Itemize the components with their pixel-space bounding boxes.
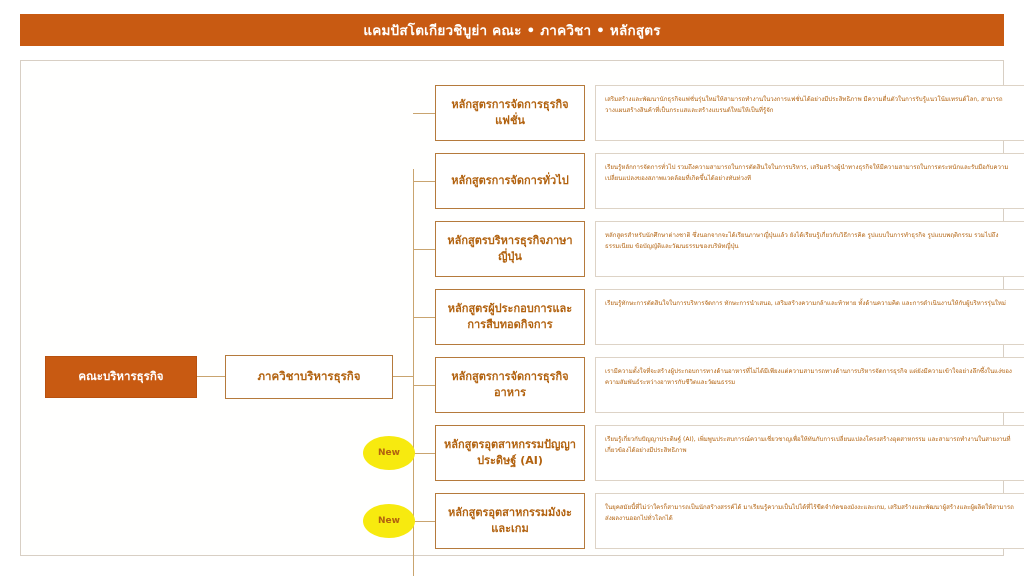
program-node[interactable]: หลักสูตรอุตสาหกรรมปัญญาประดิษฐ์ (AI): [435, 425, 585, 481]
program-node[interactable]: หลักสูตรการจัดการธุรกิจอาหาร: [435, 357, 585, 413]
program-node-label: หลักสูตรผู้ประกอบการและการสืบทอดกิจการ: [440, 301, 580, 333]
program-row: หลักสูตรผู้ประกอบการและการสืบทอดกิจการเร…: [413, 289, 1024, 345]
program-description-box: เรียนรู้ทักษะการตัดสินใจในการบริหารจัดกา…: [595, 289, 1024, 345]
page-header-banner: แคมปัสโตเกียวชิบูย่า คณะ • ภาควิชา • หลั…: [20, 14, 1004, 46]
program-node-label: หลักสูตรการจัดการธุรกิจอาหาร: [440, 369, 580, 401]
program-description-box: ในยุคสมัยนี้ที่ไม่ว่าใครก็สามารถเป็นนักส…: [595, 493, 1024, 549]
new-badge-label: New: [378, 516, 400, 526]
program-description-text: เสริมสร้างและพัฒนานักธุรกิจแฟชั่นรุ่นใหม…: [605, 94, 1015, 117]
faculty-node-label: คณะบริหารธุรกิจ: [78, 370, 163, 384]
program-description-box: เรามีความตั้งใจที่จะสร้างผู้ประกอบการทาง…: [595, 357, 1024, 413]
program-node-label: หลักสูตรการจัดการทั่วไป: [451, 173, 568, 189]
program-row: หลักสูตรการจัดการธุรกิจอาหารเรามีความตั้…: [413, 357, 1024, 413]
connector-branch-stub: [413, 113, 435, 114]
new-badge: New: [363, 436, 415, 470]
page-title: แคมปัสโตเกียวชิบูย่า คณะ • ภาควิชา • หลั…: [363, 19, 660, 41]
connector-faculty-to-department: [197, 376, 225, 377]
connector-branch-stub: [413, 453, 435, 454]
new-badge: New: [363, 504, 415, 538]
program-description-text: เรียนรู้หลักการจัดการทั่วไป รวมถึงความสา…: [605, 162, 1015, 185]
diagram-page: แคมปัสโตเกียวชิบูย่า คณะ • ภาควิชา • หลั…: [0, 0, 1024, 576]
program-node[interactable]: หลักสูตรบริหารธุรกิจภาษาญี่ปุ่น: [435, 221, 585, 277]
program-node[interactable]: หลักสูตรการจัดการทั่วไป: [435, 153, 585, 209]
department-node[interactable]: ภาควิชาบริหารธุรกิจ: [225, 355, 393, 399]
program-row: หลักสูตรบริหารธุรกิจภาษาญี่ปุ่นหลักสูตรส…: [413, 221, 1024, 277]
program-description-box: เสริมสร้างและพัฒนานักธุรกิจแฟชั่นรุ่นใหม…: [595, 85, 1024, 141]
connector-department-to-trunk: [393, 376, 413, 377]
program-node-label: หลักสูตรอุตสาหกรรมปัญญาประดิษฐ์ (AI): [440, 437, 580, 469]
program-description-text: ในยุคสมัยนี้ที่ไม่ว่าใครก็สามารถเป็นนักส…: [605, 502, 1015, 525]
program-description-box: เรียนรู้เกี่ยวกับปัญญาประดิษฐ์ (AI), เพิ…: [595, 425, 1024, 481]
program-node-label: หลักสูตรอุตสาหกรรมมังงะและเกม: [440, 505, 580, 537]
program-row: Newหลักสูตรอุตสาหกรรมปัญญาประดิษฐ์ (AI)เ…: [413, 425, 1024, 481]
program-node[interactable]: หลักสูตรอุตสาหกรรมมังงะและเกม: [435, 493, 585, 549]
program-node[interactable]: หลักสูตรการจัดการธุรกิจแฟชั่น: [435, 85, 585, 141]
connector-branch-stub: [413, 385, 435, 386]
program-row: หลักสูตรการจัดการทั่วไปเรียนรู้หลักการจั…: [413, 153, 1024, 209]
program-description-text: เรียนรู้เกี่ยวกับปัญญาประดิษฐ์ (AI), เพิ…: [605, 434, 1015, 457]
program-node-label: หลักสูตรการจัดการธุรกิจแฟชั่น: [440, 97, 580, 129]
program-description-box: หลักสูตรสำหรับนักศึกษาต่างชาติ ซึ่งนอกจา…: [595, 221, 1024, 277]
program-row: หลักสูตรการจัดการธุรกิจแฟชั่นเสริมสร้างแ…: [413, 85, 1024, 141]
connector-branch-stub: [413, 317, 435, 318]
department-node-label: ภาควิชาบริหารธุรกิจ: [257, 370, 360, 384]
program-description-text: เรียนรู้ทักษะการตัดสินใจในการบริหารจัดกา…: [605, 298, 1015, 309]
program-description-text: เรามีความตั้งใจที่จะสร้างผู้ประกอบการทาง…: [605, 366, 1015, 389]
program-description-box: เรียนรู้หลักการจัดการทั่วไป รวมถึงความสา…: [595, 153, 1024, 209]
connector-branch-stub: [413, 521, 435, 522]
org-chart-frame: คณะบริหารธุรกิจ ภาควิชาบริหารธุรกิจ หลัก…: [20, 60, 1004, 556]
connector-branch-stub: [413, 181, 435, 182]
new-badge-label: New: [378, 448, 400, 458]
program-node-label: หลักสูตรบริหารธุรกิจภาษาญี่ปุ่น: [440, 233, 580, 265]
program-description-text: หลักสูตรสำหรับนักศึกษาต่างชาติ ซึ่งนอกจา…: [605, 230, 1015, 253]
faculty-node[interactable]: คณะบริหารธุรกิจ: [45, 356, 197, 398]
program-row: Newหลักสูตรอุตสาหกรรมมังงะและเกมในยุคสมั…: [413, 493, 1024, 549]
connector-branch-stub: [413, 249, 435, 250]
program-node[interactable]: หลักสูตรผู้ประกอบการและการสืบทอดกิจการ: [435, 289, 585, 345]
